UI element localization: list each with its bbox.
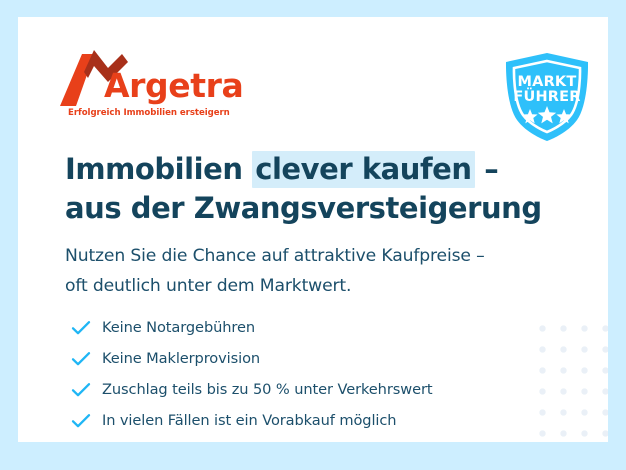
subheadline-line2: oft deutlich unter dem Marktwert. xyxy=(65,276,351,296)
badge-line2: FÜHRER xyxy=(513,87,580,105)
benefit-list: Keine Notargebühren Keine Maklerprovisio… xyxy=(68,312,538,436)
list-item: In vielen Fällen ist ein Vorabkauf mögli… xyxy=(68,405,538,436)
list-item-label: In vielen Fällen ist ein Vorabkauf mögli… xyxy=(94,412,396,429)
check-icon xyxy=(68,317,94,339)
check-icon xyxy=(68,348,94,370)
list-item-label: Keine Notargebühren xyxy=(94,319,255,336)
page-title: Immobilien clever kaufen – aus der Zwang… xyxy=(65,150,585,228)
headline-line1-after: – xyxy=(475,152,499,186)
list-item: Zuschlag teils bis zu 50 % unter Verkehr… xyxy=(68,374,538,405)
headline-line1-before: Immobilien xyxy=(65,152,252,186)
subheadline-line1: Nutzen Sie die Chance auf attraktive Kau… xyxy=(65,246,485,266)
argetra-logo: Argetra Erfolgreich Immobilien ersteiger… xyxy=(58,48,238,130)
dot-pattern-decoration xyxy=(532,318,608,442)
subheadline: Nutzen Sie die Chance auf attraktive Kau… xyxy=(65,241,585,301)
list-item-label: Zuschlag teils bis zu 50 % unter Verkehr… xyxy=(94,381,432,398)
headline-highlight: clever kaufen xyxy=(252,151,474,188)
check-icon xyxy=(68,410,94,432)
list-item-label: Keine Maklerprovision xyxy=(94,350,260,367)
list-item: Keine Maklerprovision xyxy=(68,343,538,374)
markt-fuehrer-badge: MARKT FÜHRER xyxy=(502,51,592,143)
check-icon xyxy=(68,379,94,401)
badge-line1: MARKT xyxy=(518,74,577,90)
list-item: Keine Notargebühren xyxy=(68,312,538,343)
banner-card: Argetra Erfolgreich Immobilien ersteiger… xyxy=(18,17,608,442)
logo-wordmark: Argetra xyxy=(104,69,243,102)
shield-icon: MARKT FÜHRER xyxy=(502,51,592,143)
headline-line2: aus der Zwangsversteigerung xyxy=(65,191,542,225)
logo-tagline: Erfolgreich Immobilien ersteigern xyxy=(68,108,230,118)
promo-banner: Argetra Erfolgreich Immobilien ersteiger… xyxy=(0,0,626,470)
